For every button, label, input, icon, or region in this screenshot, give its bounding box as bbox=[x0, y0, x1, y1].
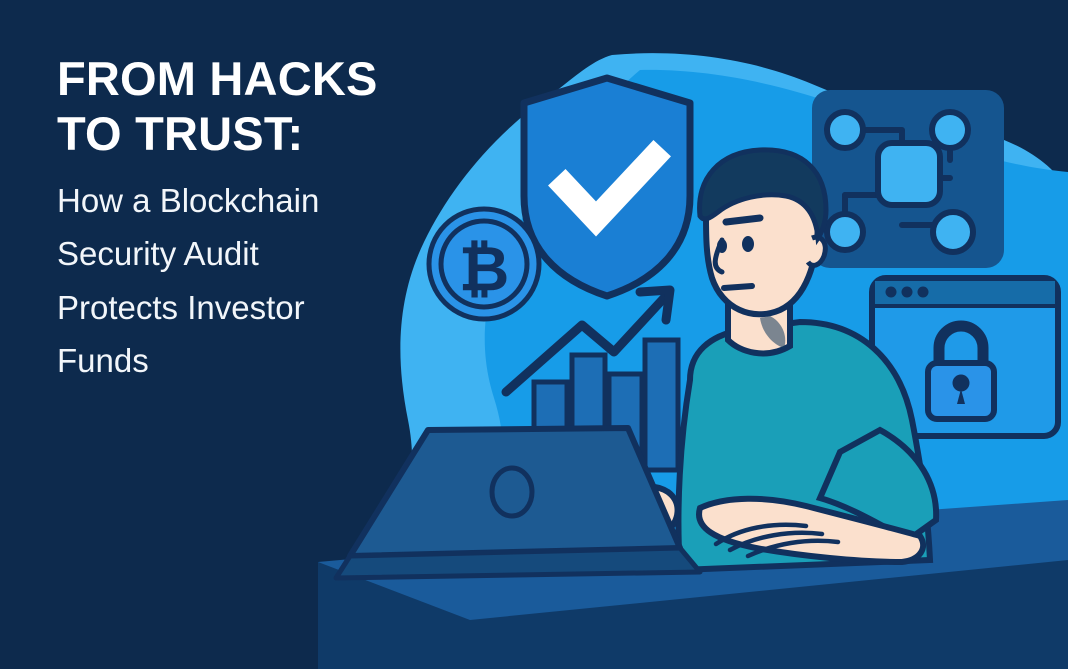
headline-line-2: TO TRUST: bbox=[57, 107, 457, 162]
window-dot bbox=[902, 287, 913, 298]
headline-line-1: FROM HACKS bbox=[57, 52, 457, 107]
subtitle-line-3: Protects Investor bbox=[57, 281, 457, 334]
circuit-node bbox=[827, 112, 863, 148]
page-subtitle: How a Blockchain Security Audit Protects… bbox=[57, 174, 457, 388]
circuit-node bbox=[933, 212, 973, 252]
circuit-node bbox=[827, 214, 863, 250]
window-dot bbox=[918, 287, 929, 298]
svg-text:₿: ₿ bbox=[459, 235, 510, 304]
subtitle-line-1: How a Blockchain bbox=[57, 174, 457, 227]
window-dot bbox=[886, 287, 897, 298]
circuit-node bbox=[932, 112, 968, 148]
text-block: FROM HACKS TO TRUST: How a Blockchain Se… bbox=[57, 52, 457, 388]
page-title: FROM HACKS TO TRUST: bbox=[57, 52, 457, 162]
subtitle-line-2: Security Audit bbox=[57, 227, 457, 280]
mouth bbox=[724, 286, 752, 288]
eyebrow bbox=[726, 218, 760, 222]
banner-graphic: ₿ bbox=[0, 0, 1068, 669]
chart-bar bbox=[645, 340, 678, 470]
shield-check-icon bbox=[524, 78, 690, 296]
eye bbox=[742, 236, 754, 252]
circuit-board-icon bbox=[812, 90, 1004, 268]
subtitle-line-4: Funds bbox=[57, 334, 457, 387]
